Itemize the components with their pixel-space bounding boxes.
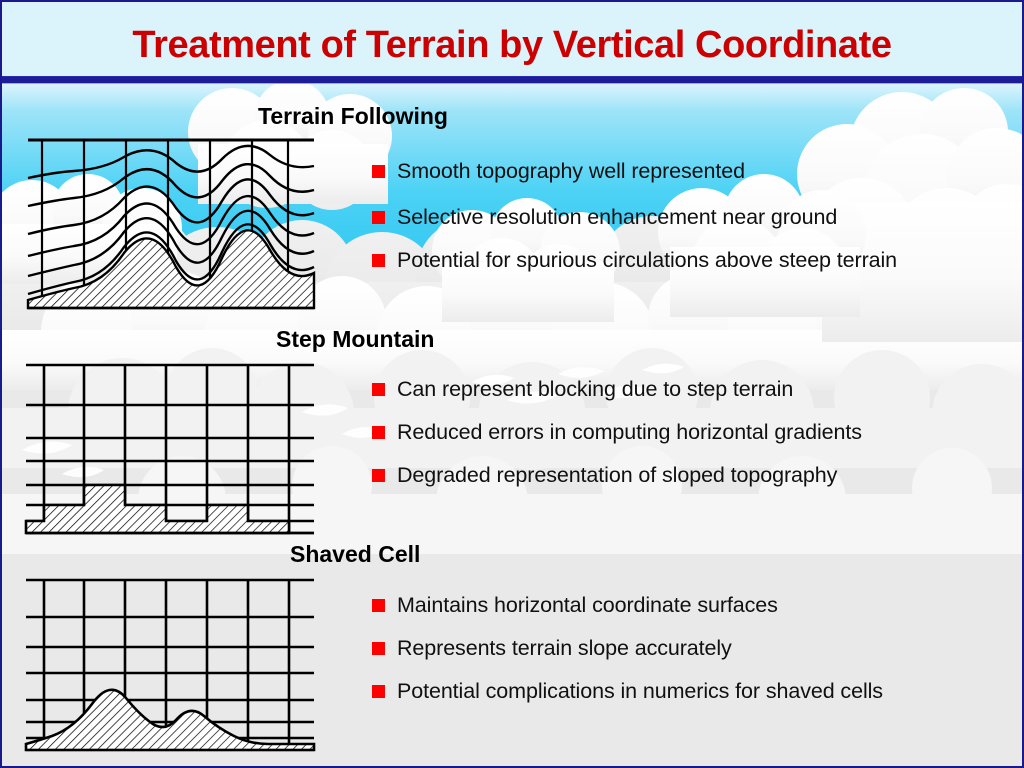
- bullet-item: Represents terrain slope accurately: [372, 636, 732, 661]
- page-title: Treatment of Terrain by Vertical Coordin…: [2, 24, 1022, 67]
- bullet-item: Maintains horizontal coordinate surfaces: [372, 593, 778, 618]
- bullet-label: Potential complications in numerics for …: [397, 679, 883, 704]
- bullet-square-icon: [372, 685, 385, 698]
- bullet-square-icon: [372, 426, 385, 439]
- bullet-label: Selective resolution enhancement near gr…: [397, 205, 837, 230]
- shaved-cell-diagram: [20, 572, 320, 762]
- title-divider-rule: [2, 76, 1022, 84]
- bullet-square-icon: [372, 599, 385, 612]
- terrain-following-diagram: [20, 134, 320, 314]
- bullet-square-icon: [372, 383, 385, 396]
- section-heading-shaved-cell: Shaved Cell: [290, 541, 420, 568]
- bullet-label: Represents terrain slope accurately: [397, 636, 732, 661]
- bullet-item: Potential for spurious circulations abov…: [372, 248, 897, 273]
- bullet-square-icon: [372, 642, 385, 655]
- bullet-square-icon: [372, 254, 385, 267]
- bullet-item: Reduced errors in computing horizontal g…: [372, 420, 862, 445]
- bullet-label: Reduced errors in computing horizontal g…: [397, 420, 862, 445]
- bullet-item: Degraded representation of sloped topogr…: [372, 463, 837, 488]
- section-heading-terrain-following: Terrain Following: [258, 103, 448, 130]
- bullet-square-icon: [372, 469, 385, 482]
- section-heading-step-mountain: Step Mountain: [276, 326, 434, 353]
- bullet-label: Smooth topography well represented: [397, 159, 745, 184]
- bullet-label: Can represent blocking due to step terra…: [397, 377, 793, 402]
- slide: Treatment of Terrain by Vertical Coordin…: [0, 0, 1024, 768]
- bullet-label: Maintains horizontal coordinate surfaces: [397, 593, 778, 618]
- bullet-label: Potential for spurious circulations abov…: [397, 248, 897, 273]
- bullet-item: Smooth topography well represented: [372, 159, 745, 184]
- bullet-item: Potential complications in numerics for …: [372, 679, 883, 704]
- bullet-item: Can represent blocking due to step terra…: [372, 377, 793, 402]
- bullet-item: Selective resolution enhancement near gr…: [372, 205, 837, 230]
- bullet-square-icon: [372, 211, 385, 224]
- step-mountain-diagram: [20, 357, 320, 537]
- bullet-square-icon: [372, 165, 385, 178]
- bullet-label: Degraded representation of sloped topogr…: [397, 463, 837, 488]
